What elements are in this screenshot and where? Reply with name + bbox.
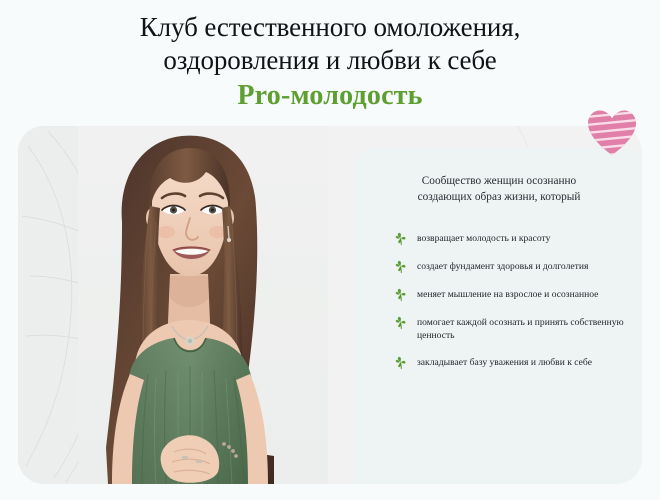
list-item: меняет мышление на взрослое и осознанное bbox=[371, 287, 627, 302]
heart-icon bbox=[585, 108, 639, 156]
list-item: закладывает базу уважения и любви к себе bbox=[371, 355, 627, 370]
list-item: возвращает молодость и красоту bbox=[371, 231, 627, 246]
panel-heading: Сообщество женщин осознанно создающих об… bbox=[380, 174, 618, 205]
panel-heading-line-1: Сообщество женщин осознанно bbox=[422, 175, 576, 187]
woman-portrait-image bbox=[78, 126, 328, 484]
benefits-list: возвращает молодость и красоту создает bbox=[371, 231, 627, 370]
page-title-line-1: Клуб естественного омоложения, bbox=[0, 11, 660, 44]
heart-decoration bbox=[585, 108, 639, 156]
member-photo bbox=[78, 126, 328, 484]
list-item: создает фундамент здоровья и долголетия bbox=[371, 259, 627, 274]
clover-icon bbox=[393, 287, 408, 302]
page-title-line-2: оздоровления и любви к себе bbox=[0, 44, 660, 77]
page-header: Клуб естественного омоложения, оздоровле… bbox=[0, 0, 660, 113]
panel-heading-line-2: создающих образ жизни, который bbox=[418, 191, 581, 203]
clover-icon bbox=[393, 259, 408, 274]
brand-name: Pro-молодость bbox=[0, 79, 660, 113]
list-item-label: закладывает базу уважения и любви к себе bbox=[417, 355, 592, 369]
clover-icon bbox=[393, 355, 408, 370]
list-item: помогает каждой осознать и принять собст… bbox=[371, 315, 627, 342]
list-item-label: создает фундамент здоровья и долголетия bbox=[417, 259, 588, 273]
list-item-label: меняет мышление на взрослое и осознанное bbox=[417, 287, 598, 301]
list-item-label: помогает каждой осознать и принять собст… bbox=[417, 315, 627, 342]
main-card: Сообщество женщин осознанно создающих об… bbox=[18, 126, 642, 484]
community-info-panel: Сообщество женщин осознанно создающих об… bbox=[355, 148, 642, 484]
clover-icon bbox=[393, 315, 408, 330]
clover-icon bbox=[393, 231, 408, 246]
list-item-label: возвращает молодость и красоту bbox=[417, 231, 550, 245]
